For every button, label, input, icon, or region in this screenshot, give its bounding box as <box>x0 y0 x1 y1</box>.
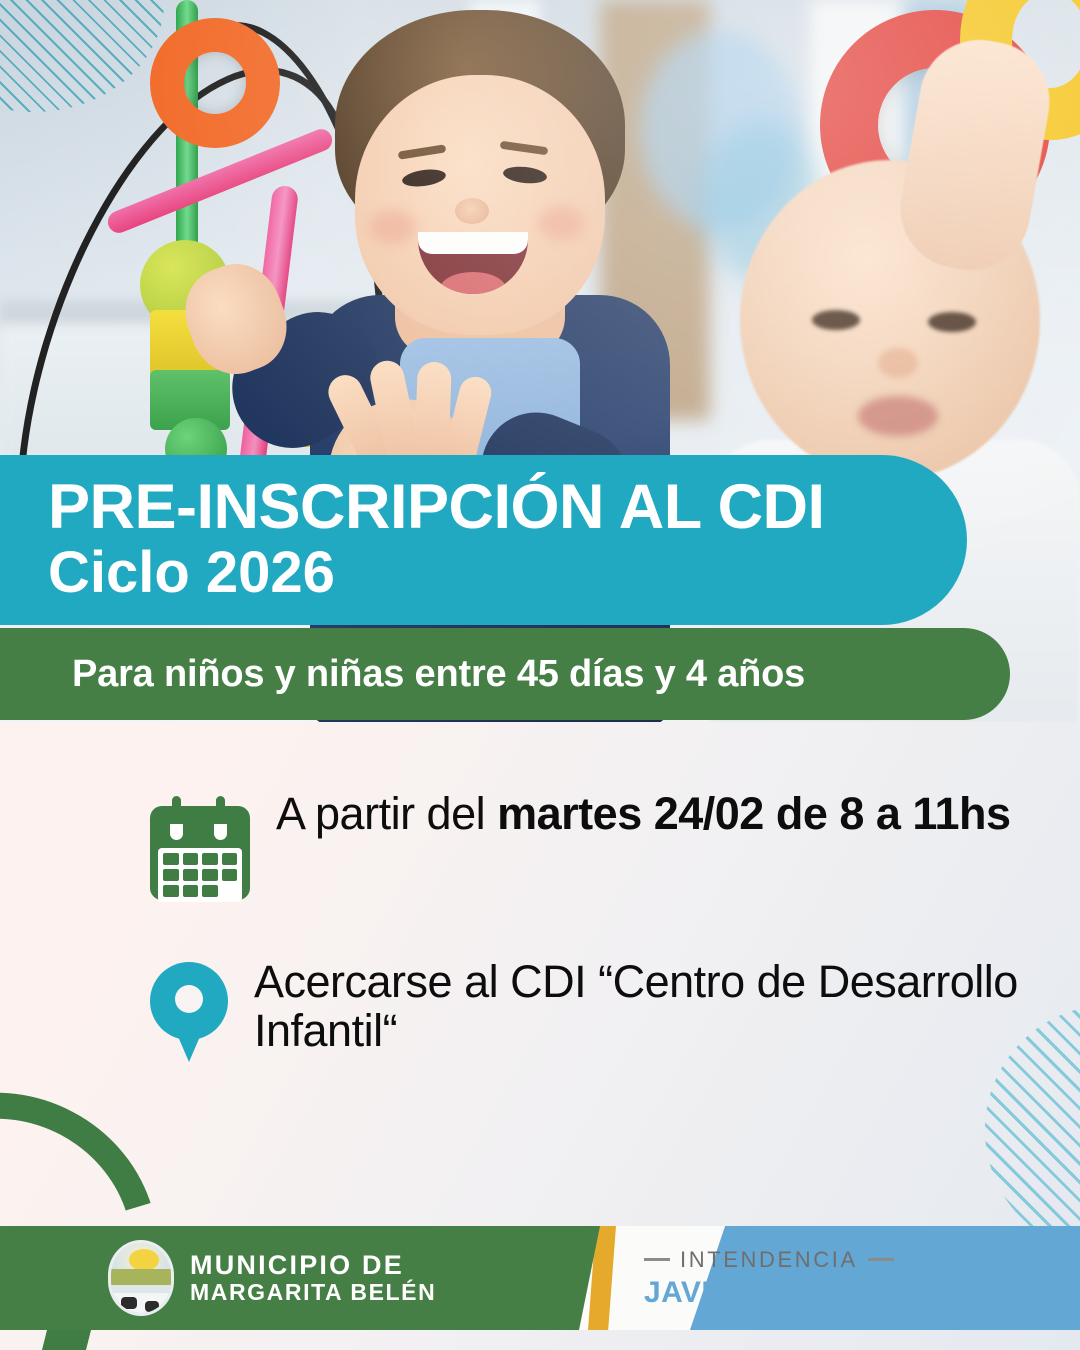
dash-left-icon <box>644 1258 670 1261</box>
subtitle-text: Para niños y niñas entre 45 días y 4 año… <box>72 653 805 696</box>
municipio-line-2: MARGARITA BELÉN <box>190 1280 436 1306</box>
intendencia-block: INTENDENCIA JAVIER MARTÍNEZ <box>628 1226 1028 1330</box>
shield-sun <box>129 1249 159 1271</box>
info-date-prefix: A partir del <box>276 788 497 839</box>
calendar-body <box>150 806 250 900</box>
info-list: A partir del martes 24/02 de 8 a 11hs Ac… <box>150 790 1030 1124</box>
shield-base <box>111 1293 171 1316</box>
info-row-location-text: Acercarse al CDI “Centro de Desarrollo I… <box>254 958 1030 1055</box>
poster-root: PRE-INSCRIPCIÓN AL CDI Ciclo 2026 Para n… <box>0 0 1080 1350</box>
intendencia-label: INTENDENCIA <box>680 1247 858 1273</box>
shield-cow-1 <box>121 1297 137 1309</box>
municipio-line-1: MUNICIPIO DE <box>190 1250 436 1280</box>
dash-right-icon <box>868 1258 894 1261</box>
footer-banner: MUNICIPIO DE MARGARITA BELÉN INTENDENCIA… <box>0 1226 1080 1330</box>
calendar-notch-left <box>170 824 183 840</box>
calendar-grid <box>158 848 242 902</box>
page-subtitle-cycle: Ciclo 2026 <box>48 543 967 604</box>
subtitle-band: Para niños y niñas entre 45 días y 4 año… <box>0 628 1010 720</box>
municipio-wordmark: MUNICIPIO DE MARGARITA BELÉN <box>190 1250 436 1306</box>
location-pin-icon <box>150 962 228 1066</box>
info-row-date: A partir del martes 24/02 de 8 a 11hs <box>150 790 1030 900</box>
footer-green-panel: MUNICIPIO DE MARGARITA BELÉN <box>0 1226 600 1330</box>
title-band: PRE-INSCRIPCIÓN AL CDI Ciclo 2026 <box>0 455 967 625</box>
intendente-name: JAVIER MARTÍNEZ <box>644 1276 919 1310</box>
shield-cow-2 <box>145 1301 159 1312</box>
page-title: PRE-INSCRIPCIÓN AL CDI <box>48 476 967 539</box>
intendencia-label-row: INTENDENCIA <box>644 1247 894 1273</box>
info-row-date-text: A partir del martes 24/02 de 8 a 11hs <box>276 790 1011 839</box>
municipal-coat-of-arms-icon <box>108 1240 174 1316</box>
calendar-icon <box>150 796 250 900</box>
pin-hole <box>175 985 203 1013</box>
info-row-location: Acercarse al CDI “Centro de Desarrollo I… <box>150 958 1030 1066</box>
calendar-notch-right <box>214 824 227 840</box>
info-date-emphasis: martes 24/02 de 8 a 11hs <box>497 788 1010 839</box>
